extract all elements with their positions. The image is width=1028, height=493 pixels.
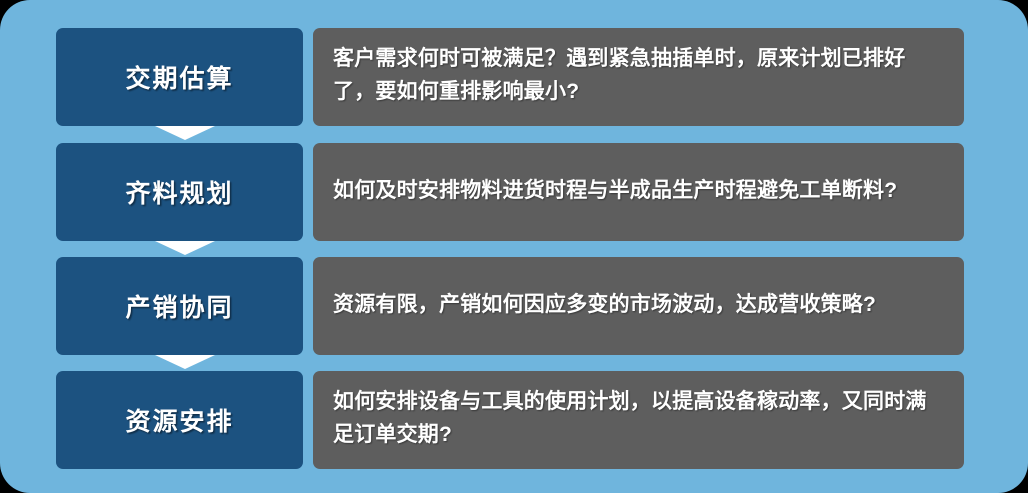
stage-label-text-2: 齐料规划 bbox=[125, 174, 233, 210]
stage-description-text-3: 资源有限，产销如何因应多变的市场波动，达成营收策略? bbox=[333, 288, 876, 321]
stage-description-box-4[interactable]: 如何安排设备与工具的使用计划，以提高设备稼动率，又同时满足订单交期? bbox=[313, 371, 964, 469]
slide-canvas: 交期估算 客户需求何时可被满足？遇到紧急抽插单时，原来计划已排好了，要如何重排影… bbox=[0, 0, 1028, 493]
stage-description-box-3[interactable]: 资源有限，产销如何因应多变的市场波动，达成营收策略? bbox=[313, 257, 964, 355]
stage-description-text-1: 客户需求何时可被满足？遇到紧急抽插单时，原来计划已排好了，要如何重排影响最小? bbox=[333, 42, 946, 108]
stage-label-text-1: 交期估算 bbox=[125, 59, 233, 95]
flow-row-3: 产销协同 资源有限，产销如何因应多变的市场波动，达成营收策略? bbox=[56, 257, 964, 355]
stage-label-box-2[interactable]: 齐料规划 bbox=[56, 143, 303, 241]
arrow-down-icon-1 bbox=[155, 126, 215, 140]
flow-row-4: 资源安排 如何安排设备与工具的使用计划，以提高设备稼动率，又同时满足订单交期? bbox=[56, 371, 964, 469]
stage-description-text-4: 如何安排设备与工具的使用计划，以提高设备稼动率，又同时满足订单交期? bbox=[333, 385, 946, 451]
arrow-down-icon-3 bbox=[155, 355, 215, 369]
flow-row-2: 齐料规划 如何及时安排物料进货时程与半成品生产时程避免工单断料? bbox=[56, 143, 964, 241]
stage-description-text-2: 如何及时安排物料进货时程与半成品生产时程避免工单断料? bbox=[333, 174, 897, 207]
stage-label-text-4: 资源安排 bbox=[125, 402, 233, 438]
stage-description-box-2[interactable]: 如何及时安排物料进货时程与半成品生产时程避免工单断料? bbox=[313, 143, 964, 241]
stage-label-box-4[interactable]: 资源安排 bbox=[56, 371, 303, 469]
stage-label-text-3: 产销协同 bbox=[125, 288, 233, 324]
stage-description-box-1[interactable]: 客户需求何时可被满足？遇到紧急抽插单时，原来计划已排好了，要如何重排影响最小? bbox=[313, 28, 964, 126]
arrow-down-icon-2 bbox=[155, 241, 215, 255]
stage-label-box-3[interactable]: 产销协同 bbox=[56, 257, 303, 355]
flow-row-1: 交期估算 客户需求何时可被满足？遇到紧急抽插单时，原来计划已排好了，要如何重排影… bbox=[56, 28, 964, 126]
flow-rows: 交期估算 客户需求何时可被满足？遇到紧急抽插单时，原来计划已排好了，要如何重排影… bbox=[0, 0, 1028, 493]
stage-label-box-1[interactable]: 交期估算 bbox=[56, 28, 303, 126]
